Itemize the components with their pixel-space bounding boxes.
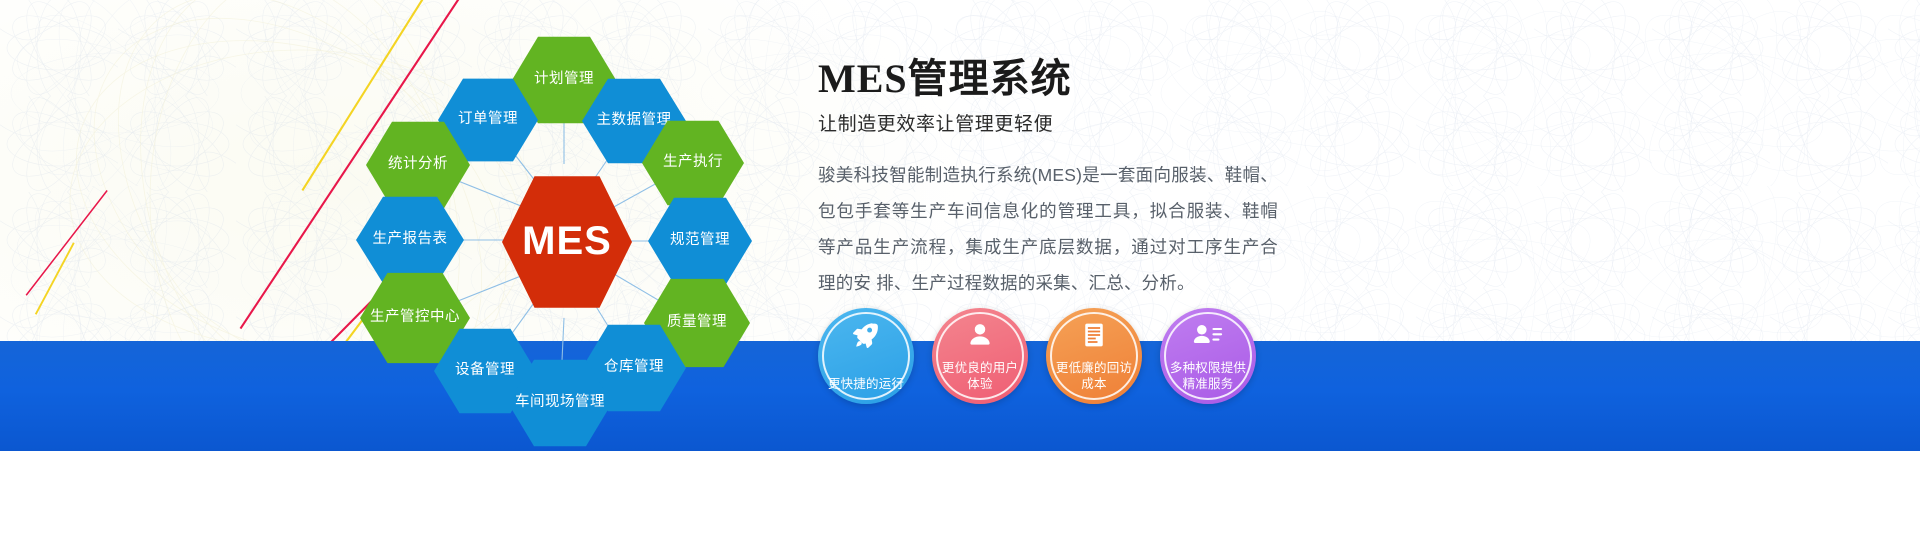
page-description: 骏美科技智能制造执行系统(MES)是一套面向服装、鞋帽、包包手套等生产车间信息化…: [818, 158, 1278, 302]
hex-node-label: 设备管理: [449, 362, 521, 379]
hex-node-label: 生产管控中心: [364, 309, 466, 326]
page-title: MES管理系统: [818, 58, 1338, 100]
hex-node-label: 计划管理: [528, 71, 600, 88]
hex-node-label: 规范管理: [664, 232, 736, 249]
hex-node-label: 生产报告表: [367, 231, 454, 248]
copy-block: MES管理系统 让制造更效率让管理更轻便 骏美科技智能制造执行系统(MES)是一…: [818, 58, 1338, 302]
hex-node-label: 仓库管理: [598, 359, 670, 376]
badge-faster-operation[interactable]: 更快捷的运行: [818, 308, 914, 404]
money-icon: [1046, 320, 1142, 350]
hex-node-label: 生产执行: [657, 154, 729, 171]
badge-multi-permission[interactable]: 多种权限提供精准服务: [1160, 308, 1256, 404]
banner-stage: 计划管理订单管理主数据管理统计分析生产执行生产报告表规范管理生产管控中心质量管理…: [0, 0, 1920, 550]
hex-node-label: 统计分析: [382, 156, 454, 173]
badge-label: 更低廉的回访成本: [1048, 360, 1140, 392]
hex-node-label: 质量管理: [661, 314, 733, 331]
hex-center-label: MES: [516, 218, 618, 265]
badge-label: 更快捷的运行: [820, 376, 912, 392]
user-icon: [932, 320, 1028, 350]
badge-lower-revisit-cost[interactable]: 更低廉的回访成本: [1046, 308, 1142, 404]
background-bottom: [0, 451, 1920, 550]
mes-hexagon-diagram: 计划管理订单管理主数据管理统计分析生产执行生产报告表规范管理生产管控中心质量管理…: [330, 12, 800, 442]
hex-node-label: 车间现场管理: [509, 394, 611, 411]
feature-badges: 更快捷的运行 更优良的用户体验: [818, 308, 1256, 404]
rocket-icon: [818, 320, 914, 350]
roles-icon: [1160, 320, 1256, 350]
badge-better-user-experience[interactable]: 更优良的用户体验: [932, 308, 1028, 404]
hex-node-label: 订单管理: [452, 111, 524, 128]
page-subtitle: 让制造更效率让管理更轻便: [818, 109, 1338, 136]
badge-label: 更优良的用户体验: [934, 360, 1026, 392]
badge-label: 多种权限提供精准服务: [1162, 360, 1254, 392]
